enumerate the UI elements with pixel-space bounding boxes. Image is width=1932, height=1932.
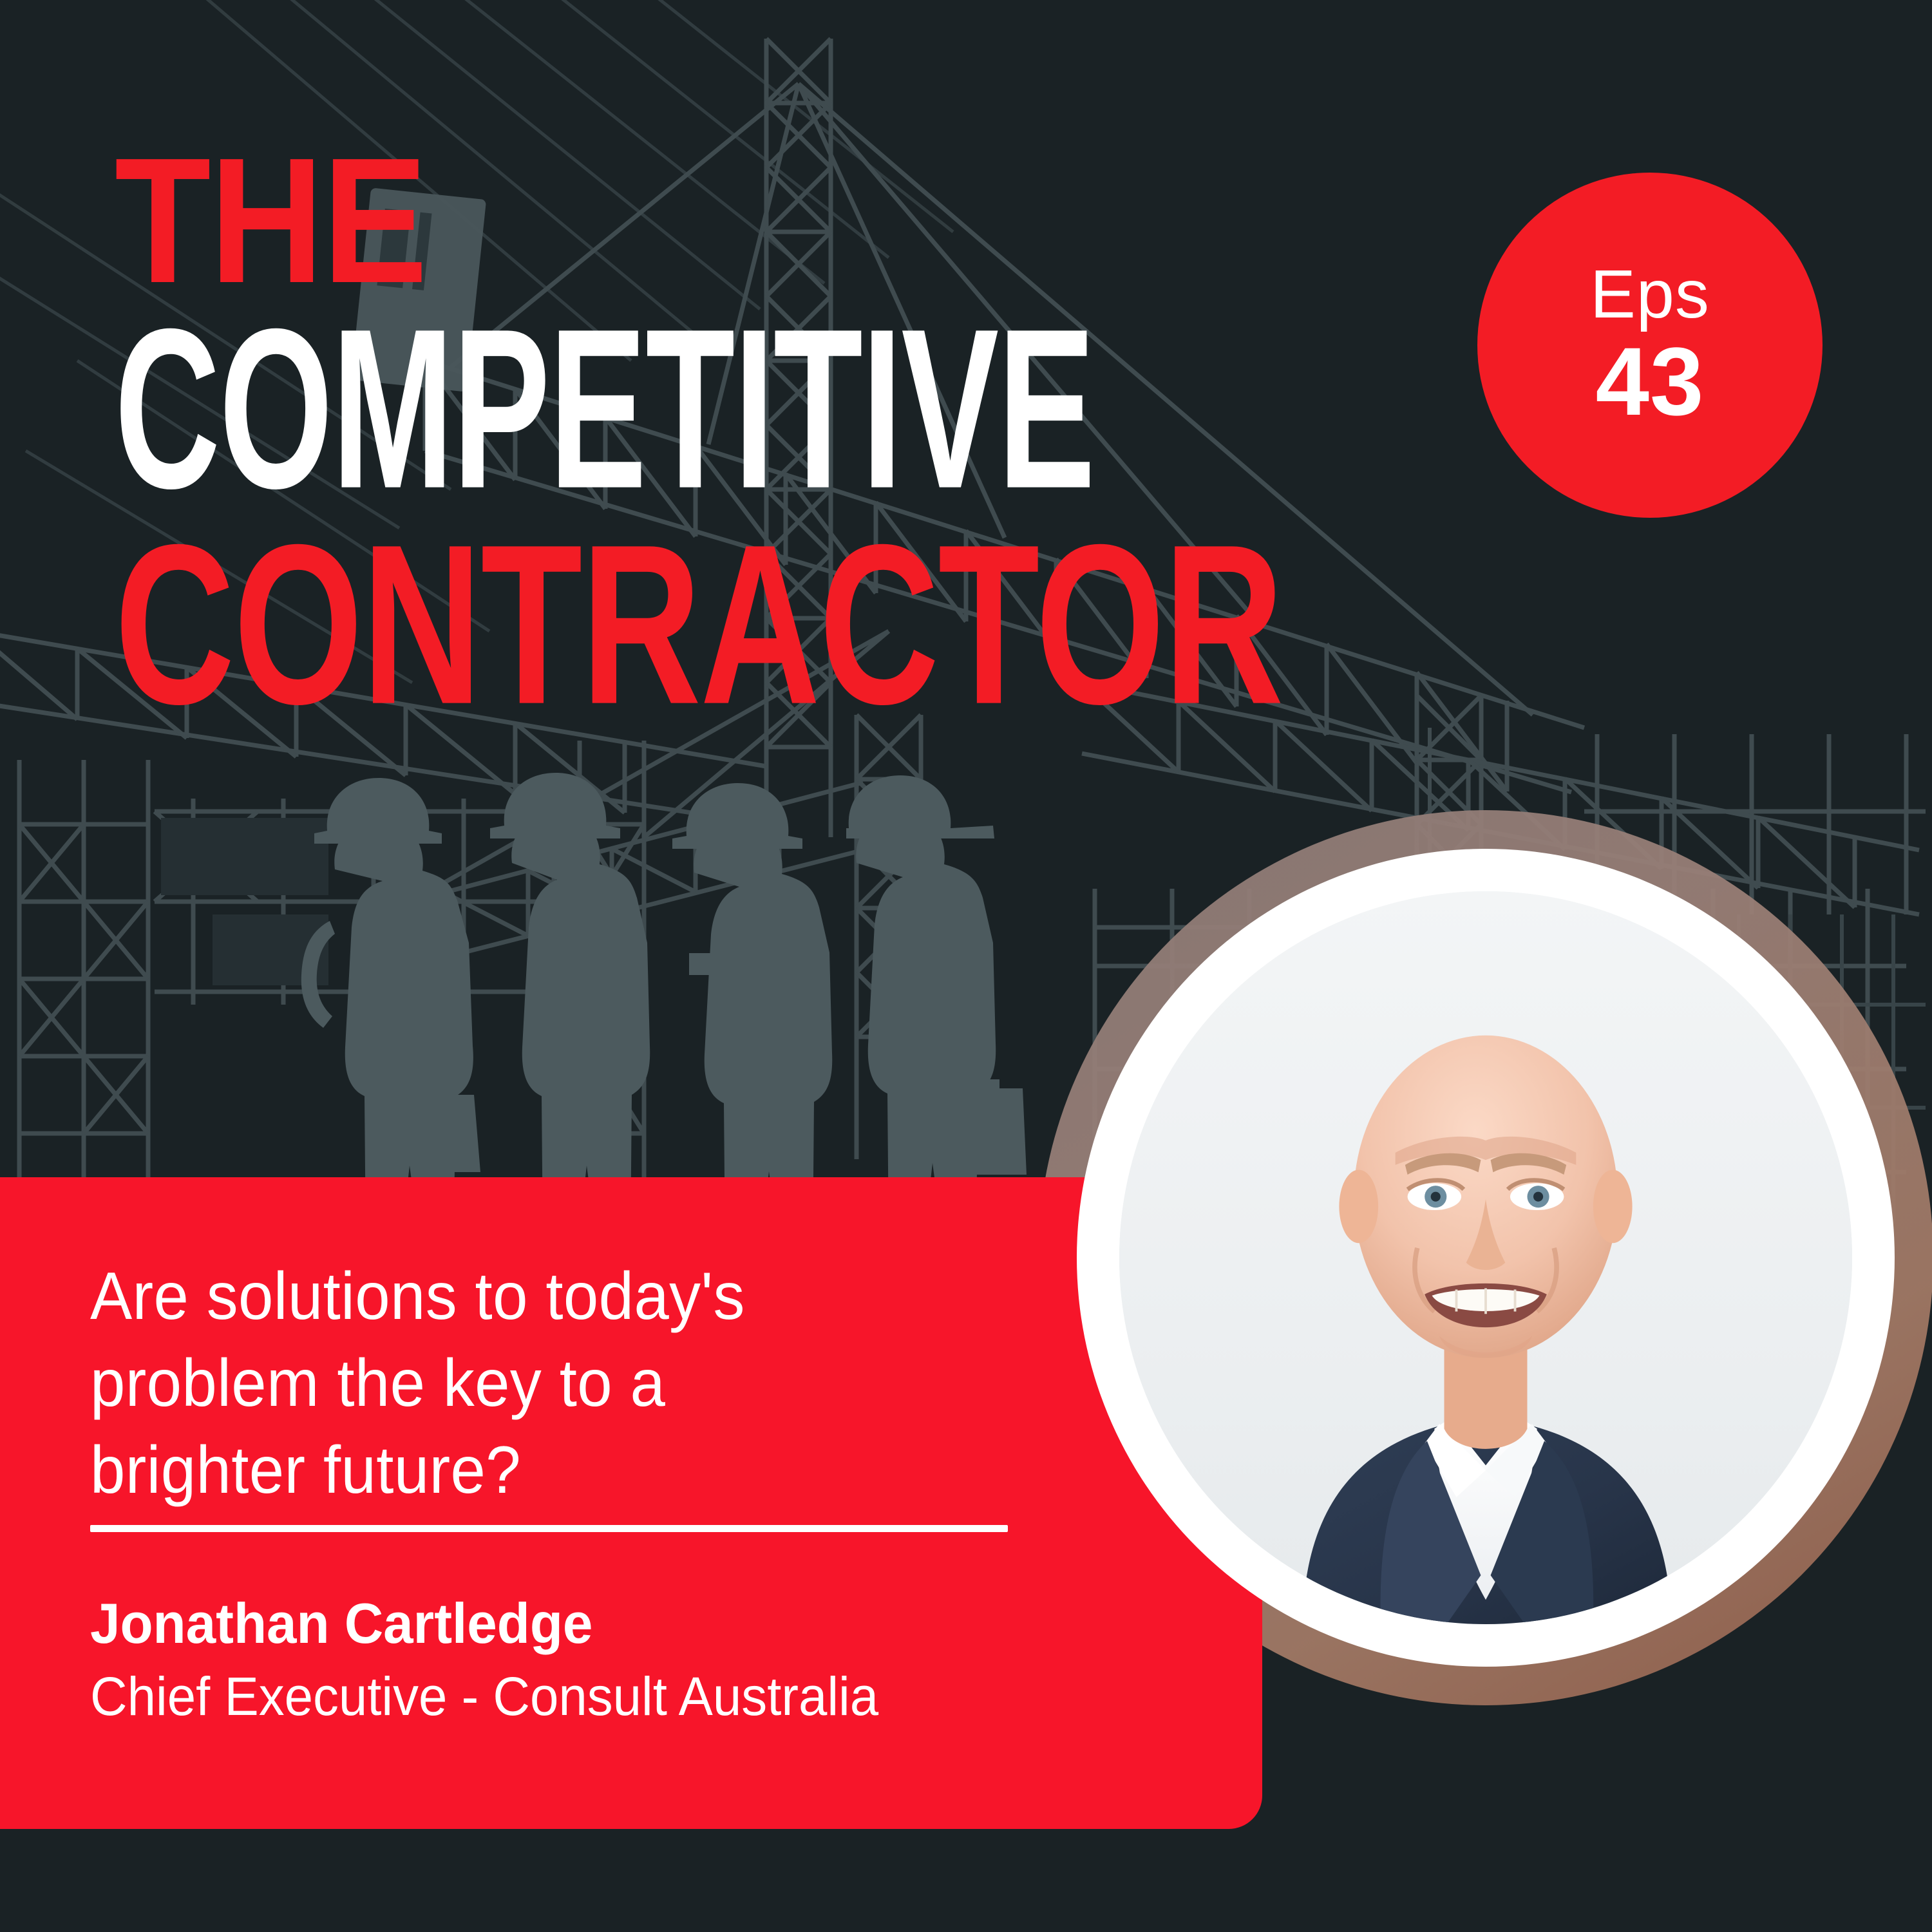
title-line-the: THE xyxy=(115,149,1216,292)
podcast-cover-art: THE COMPETITIVE CONTRACTOR Eps 43 xyxy=(0,0,1932,1932)
guest-role: Chief Executive - Consult Australia xyxy=(90,1667,878,1726)
panel-divider xyxy=(90,1525,1008,1532)
guest-name: Jonathan Cartledge xyxy=(90,1593,592,1655)
show-title: THE COMPETITIVE CONTRACTOR xyxy=(115,149,1338,674)
title-line-competitive: COMPETITIVE xyxy=(115,318,1137,500)
episode-badge: Eps 43 xyxy=(1477,173,1823,518)
episode-number: 43 xyxy=(1596,332,1705,431)
episode-info-panel: Are solutions to today's problem the key… xyxy=(0,1177,1262,1829)
guest-portrait-photo xyxy=(1119,891,1852,1624)
episode-headline: Are solutions to today's problem the key… xyxy=(90,1253,865,1515)
title-line-contractor: CONTRACTOR xyxy=(115,534,1277,716)
episode-label: Eps xyxy=(1590,260,1710,328)
